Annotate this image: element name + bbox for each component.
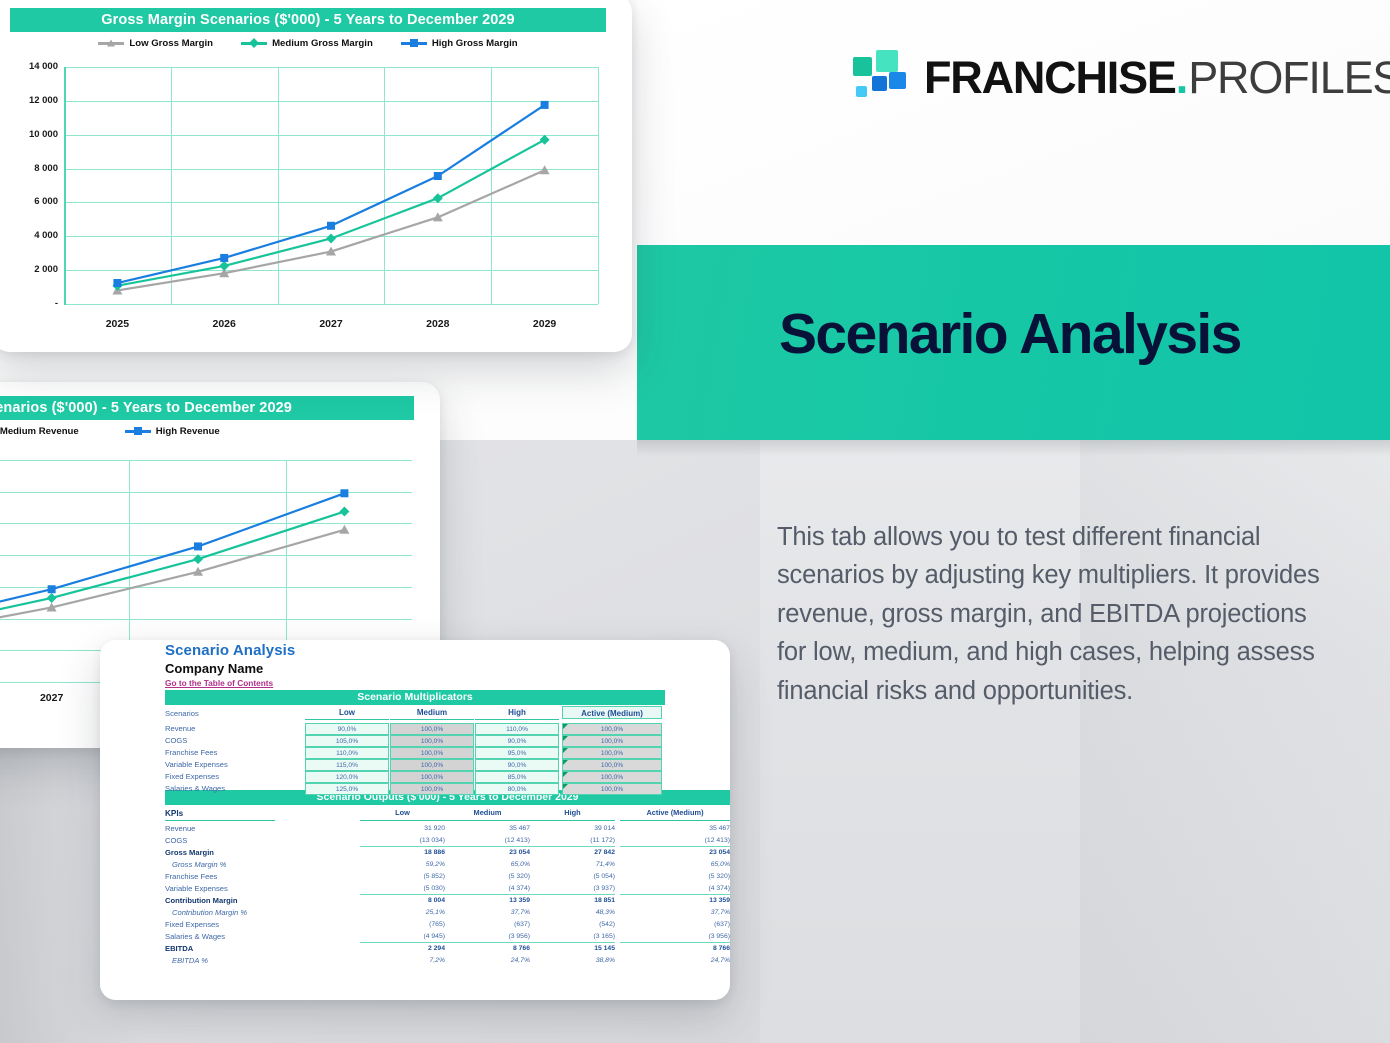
data-point-marker	[339, 525, 349, 534]
diamond-marker-icon	[249, 38, 259, 48]
multiplicators-value-high: 90,0%	[475, 738, 559, 745]
multiplicators-value-active: 100,0%	[562, 774, 662, 781]
outputs-value-high: 71,4%	[530, 861, 615, 868]
multiplicators-band: Scenario Multiplicators	[165, 690, 665, 705]
sheet-company-name: Company Name	[165, 661, 263, 676]
multiplicators-value-medium: 100,0%	[390, 774, 474, 781]
gross-margin-plot-area: -2 0004 0006 0008 00010 00012 00014 0002…	[64, 67, 598, 304]
x-axis-tick-label: 2026	[194, 318, 254, 330]
legend-line-low-gross-margin	[98, 42, 124, 45]
outputs-value-medium: (5 320)	[445, 873, 530, 880]
data-point-marker	[433, 193, 443, 203]
legend-item-medium-revenue: Medium Revenue	[0, 426, 79, 437]
outputs-row-label: Contribution Margin %	[172, 908, 247, 917]
table-of-contents-link[interactable]: Go to the Table of Contents	[165, 678, 273, 688]
gross-margin-chart-card: Gross Margin Scenarios ($'000) - 5 Years…	[0, 0, 632, 352]
outputs-value-medium: 8 766	[445, 945, 530, 952]
outputs-value-active: (3 956)	[620, 933, 730, 940]
square-marker-icon	[410, 39, 418, 47]
gridline-vertical	[598, 67, 599, 304]
data-point-marker	[340, 489, 348, 497]
outputs-value-low: 25,1%	[360, 909, 445, 916]
outputs-value-active: 35 467	[620, 825, 730, 832]
slide-canvas: Revenue Scenarios ($'000) - 5 Years to D…	[0, 0, 1390, 1043]
outputs-value-medium: (637)	[445, 921, 530, 928]
outputs-row-label: Salaries & Wages	[165, 932, 225, 941]
multiplicators-value-low: 120,0%	[305, 774, 389, 781]
legend-line-medium-gross-margin	[241, 42, 267, 45]
x-axis-tick-label: 2025	[87, 318, 147, 330]
outputs-header-underline	[620, 820, 730, 821]
multiplicators-value-medium: 100,0%	[390, 726, 474, 733]
legend-item-high-revenue: High Revenue	[125, 426, 220, 437]
outputs-value-active: (12 413)	[620, 837, 730, 844]
multiplicators-value-low: 125,0%	[305, 786, 389, 793]
logo-square-teal-dark	[853, 57, 872, 76]
gross-margin-chart-title: Gross Margin Scenarios ($'000) - 5 Years…	[10, 8, 606, 32]
legend-label: High Revenue	[156, 426, 220, 437]
multiplicators-value-active: 100,0%	[562, 750, 662, 757]
outputs-value-medium: (3 956)	[445, 933, 530, 940]
legend-item-medium-gross-margin: Medium Gross Margin	[241, 38, 373, 49]
multiplicators-column-header-low: Low	[305, 708, 389, 717]
outputs-value-active: (5 320)	[620, 873, 730, 880]
outputs-value-high: 18 851	[530, 897, 615, 904]
series-line	[117, 105, 544, 283]
multiplicators-row-label: Revenue	[165, 724, 195, 733]
multiplicators-header-underline	[305, 719, 389, 720]
multiplicators-row-label: Franchise Fees	[165, 748, 217, 757]
outputs-subtotal-rule	[620, 846, 730, 847]
y-axis-tick-label: 10 000	[2, 129, 58, 140]
data-point-marker	[434, 172, 442, 180]
outputs-row-label: Revenue	[165, 824, 195, 833]
multiplicators-row-label: Variable Expenses	[165, 760, 228, 769]
x-axis-tick-label: 2027	[22, 692, 82, 704]
data-point-marker	[219, 261, 229, 271]
series-layer	[64, 67, 598, 304]
outputs-value-active: 24,7%	[620, 957, 730, 964]
y-axis-tick-label: 12 000	[2, 95, 58, 106]
multiplicators-value-low: 90,0%	[305, 726, 389, 733]
logo-square-blue-mid	[872, 76, 887, 91]
outputs-value-high: (3 937)	[530, 885, 615, 892]
legend-label: Medium Revenue	[0, 426, 79, 437]
gridline-horizontal	[64, 304, 598, 305]
outputs-subtotal-rule	[620, 942, 730, 943]
multiplicators-value-high: 110,0%	[475, 726, 559, 733]
outputs-value-medium: 24,7%	[445, 957, 530, 964]
outputs-value-medium: (4 374)	[445, 885, 530, 892]
outputs-value-medium: 35 467	[445, 825, 530, 832]
outputs-subtotal-rule	[620, 894, 730, 895]
legend-label: High Gross Margin	[432, 38, 518, 49]
x-axis-tick-label: 2029	[515, 318, 575, 330]
outputs-value-high: (11 172)	[530, 837, 615, 844]
multiplicators-value-medium: 100,0%	[390, 786, 474, 793]
outputs-value-low: (5 030)	[360, 885, 445, 892]
outputs-value-active: 8 766	[620, 945, 730, 952]
data-point-marker	[113, 279, 121, 287]
multiplicators-value-high: 85,0%	[475, 774, 559, 781]
revenue-chart-title: Revenue Scenarios ($'000) - 5 Years to D…	[0, 396, 414, 420]
data-point-marker	[541, 101, 549, 109]
outputs-row-label: COGS	[165, 836, 187, 845]
multiplicators-row-label: Fixed Expenses	[165, 772, 219, 781]
outputs-value-high: (542)	[530, 921, 615, 928]
revenue-chart-legend: Low Revenue Medium Revenue High Revenue	[0, 422, 414, 440]
outputs-header-underline	[445, 820, 530, 821]
legend-item-high-gross-margin: High Gross Margin	[401, 38, 518, 49]
outputs-value-low: 2 294	[360, 945, 445, 952]
multiplicators-value-low: 110,0%	[305, 750, 389, 757]
series-line	[117, 140, 544, 286]
outputs-value-active: 23 054	[620, 849, 730, 856]
multiplicators-value-active: 100,0%	[562, 786, 662, 793]
legend-item-low-gross-margin: Low Gross Margin	[98, 38, 213, 49]
gross-margin-chart-legend: Low Gross Margin Medium Gross Margin Hig…	[10, 34, 606, 52]
outputs-header-underline	[530, 820, 615, 821]
outputs-value-high: 27 842	[530, 849, 615, 856]
sheet-title: Scenario Analysis	[165, 642, 295, 659]
outputs-value-high: 38,8%	[530, 957, 615, 964]
outputs-column-header-medium: Medium	[445, 808, 530, 817]
outputs-value-active: 13 359	[620, 897, 730, 904]
data-point-marker	[327, 222, 335, 230]
scenario-sheet: Scenario Analysis Company Name Go to the…	[100, 640, 730, 1000]
outputs-value-low: (5 852)	[360, 873, 445, 880]
logo-wordmark: FRANCHISE.PROFILES	[924, 52, 1390, 104]
outputs-row-label: EBITDA %	[172, 956, 208, 965]
logo-square-blue-dark	[889, 72, 906, 89]
multiplicators-header-underline	[475, 719, 559, 720]
legend-line-high-gross-margin	[401, 42, 427, 45]
legend-label: Medium Gross Margin	[272, 38, 373, 49]
outputs-subtotal-rule	[530, 894, 615, 895]
outputs-value-high: 15 145	[530, 945, 615, 952]
series-line	[117, 170, 544, 290]
x-axis-tick-label: 2027	[301, 318, 361, 330]
outputs-subtotal-rule	[445, 846, 530, 847]
multiplicators-value-medium: 100,0%	[390, 750, 474, 757]
outputs-value-high: 48,3%	[530, 909, 615, 916]
outputs-value-medium: 37,7%	[445, 909, 530, 916]
multiplicators-value-low: 105,0%	[305, 738, 389, 745]
triangle-marker-icon	[107, 40, 115, 47]
multiplicators-value-medium: 100,0%	[390, 762, 474, 769]
data-point-marker	[193, 554, 203, 564]
outputs-subtotal-rule	[360, 846, 445, 847]
multiplicators-value-active: 100,0%	[562, 726, 662, 733]
outputs-row-header: KPIs	[165, 809, 183, 818]
multiplicators-row-label: COGS	[165, 736, 187, 745]
y-axis-tick-label: 8 000	[2, 163, 58, 174]
outputs-column-header-low: Low	[360, 808, 445, 817]
outputs-value-low: 59,2%	[360, 861, 445, 868]
outputs-subtotal-rule	[530, 846, 615, 847]
outputs-active-column-header: Active (Medium)	[620, 808, 730, 817]
outputs-value-active: 37,7%	[620, 909, 730, 916]
data-point-marker	[48, 585, 56, 593]
series-line	[0, 493, 344, 651]
legend-line-high-revenue	[125, 430, 151, 433]
series-line	[0, 512, 344, 656]
multiplicators-value-low: 115,0%	[305, 762, 389, 769]
multiplicators-value-high: 80,0%	[475, 786, 559, 793]
multiplicators-active-column-header: Active (Medium)	[562, 709, 662, 718]
y-axis-tick-label: -	[2, 298, 58, 309]
outputs-subtotal-rule	[530, 942, 615, 943]
logo-word-franchise: FRANCHISE	[924, 52, 1176, 103]
y-axis-tick-label: 6 000	[2, 196, 58, 207]
outputs-value-low: 7,2%	[360, 957, 445, 964]
description-paragraph: This tab allows you to test different fi…	[777, 518, 1322, 710]
y-axis-tick-label: 2 000	[2, 264, 58, 275]
outputs-value-active: (4 374)	[620, 885, 730, 892]
outputs-subtotal-rule	[360, 942, 445, 943]
outputs-value-low: (765)	[360, 921, 445, 928]
square-marker-icon	[134, 427, 142, 435]
outputs-row-label: Franchise Fees	[165, 872, 217, 881]
legend-label: Low Gross Margin	[129, 38, 213, 49]
data-point-marker	[220, 254, 228, 262]
franchise-profiles-logo: FRANCHISE.PROFILES	[852, 48, 1342, 110]
multiplicators-header-underline	[390, 719, 474, 720]
x-axis-tick-label: 2028	[408, 318, 468, 330]
outputs-value-medium: 13 359	[445, 897, 530, 904]
scenario-sheet-card: Scenario Analysis Company Name Go to the…	[100, 640, 730, 1000]
outputs-subtotal-rule	[445, 942, 530, 943]
multiplicators-value-high: 90,0%	[475, 762, 559, 769]
outputs-column-header-high: High	[530, 808, 615, 817]
multiplicators-value-active: 100,0%	[562, 762, 662, 769]
outputs-row-label: Fixed Expenses	[165, 920, 219, 929]
outputs-row-label: Contribution Margin	[165, 896, 238, 905]
outputs-value-high: 39 014	[530, 825, 615, 832]
outputs-header-underline	[360, 820, 445, 821]
multiplicators-value-high: 95,0%	[475, 750, 559, 757]
data-point-marker	[339, 507, 349, 517]
outputs-value-active: (637)	[620, 921, 730, 928]
data-point-marker	[47, 593, 57, 603]
outputs-value-low: 8 004	[360, 897, 445, 904]
y-axis-tick-label: 14 000	[2, 61, 58, 72]
outputs-row-label: Variable Expenses	[165, 884, 228, 893]
headline-banner-shadow	[637, 440, 1390, 456]
multiplicators-column-header-high: High	[475, 708, 559, 717]
outputs-value-low: (4 945)	[360, 933, 445, 940]
outputs-value-low: 31 920	[360, 825, 445, 832]
outputs-value-active: 65,0%	[620, 861, 730, 868]
outputs-subtotal-rule	[360, 894, 445, 895]
outputs-value-medium: (12 413)	[445, 837, 530, 844]
outputs-header-underline	[165, 820, 275, 821]
multiplicators-value-medium: 100,0%	[390, 738, 474, 745]
page-title: Scenario Analysis	[779, 304, 1241, 364]
logo-mark-icon	[852, 50, 908, 106]
logo-square-blue-light	[856, 86, 867, 97]
multiplicators-row-label: Salaries & Wages	[165, 784, 225, 793]
y-axis-tick-label: 4 000	[2, 230, 58, 241]
outputs-value-medium: 65,0%	[445, 861, 530, 868]
data-point-marker	[540, 165, 550, 174]
logo-square-teal-light	[876, 50, 898, 72]
multiplicators-value-active: 100,0%	[562, 738, 662, 745]
outputs-value-low: 18 886	[360, 849, 445, 856]
outputs-row-label: Gross Margin %	[172, 860, 226, 869]
logo-dot: .	[1176, 52, 1189, 103]
outputs-value-high: (3 165)	[530, 933, 615, 940]
outputs-row-label: EBITDA	[165, 944, 193, 953]
data-point-marker	[326, 233, 336, 243]
outputs-value-medium: 23 054	[445, 849, 530, 856]
multiplicators-row-header: Scenarios	[165, 709, 199, 718]
outputs-value-low: (13 034)	[360, 837, 445, 844]
data-point-marker	[194, 542, 202, 550]
outputs-value-high: (5 054)	[530, 873, 615, 880]
outputs-subtotal-rule	[445, 894, 530, 895]
logo-word-profiles: PROFILES	[1188, 52, 1390, 103]
multiplicators-column-header-medium: Medium	[390, 708, 474, 717]
data-point-marker	[540, 135, 550, 145]
outputs-row-label: Gross Margin	[165, 848, 214, 857]
